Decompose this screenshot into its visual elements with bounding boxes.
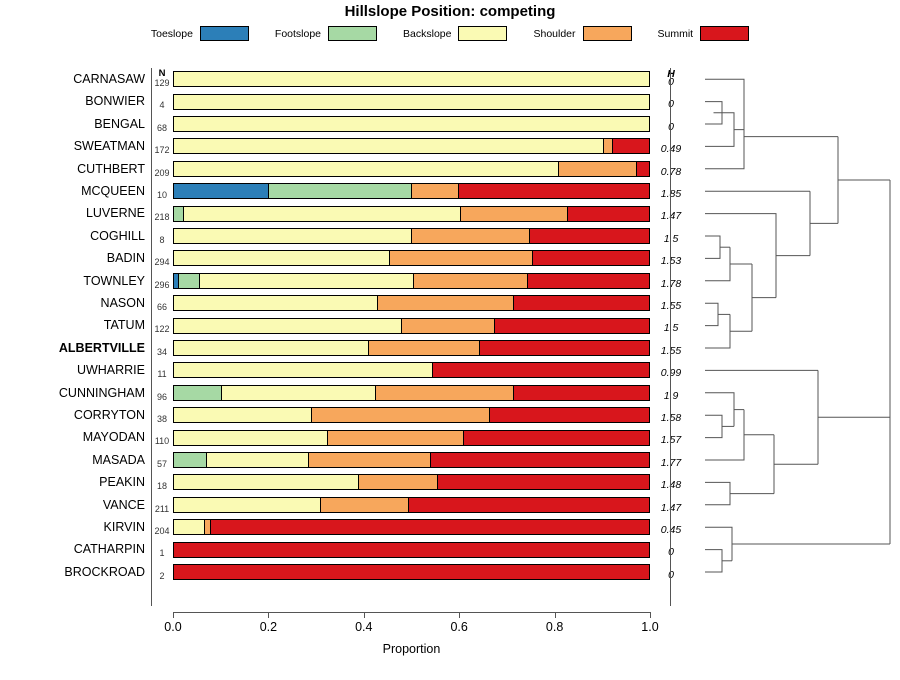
- bar-segment-shoulder: [312, 408, 490, 422]
- legend: ToeslopeFootslopeBackslopeShoulderSummit: [0, 26, 900, 41]
- bar-row: [173, 561, 650, 583]
- bar-segment-shoulder: [309, 453, 430, 467]
- bar-row: [173, 471, 650, 493]
- bar-segment-summit: [174, 565, 649, 579]
- taxon-label: LUVERNE: [0, 202, 145, 224]
- bar-row: [173, 382, 650, 404]
- x-tick: [173, 612, 174, 618]
- stacked-bar[interactable]: [173, 161, 650, 177]
- bar-row: [173, 113, 650, 135]
- legend-swatch: [458, 26, 507, 41]
- stacked-bar[interactable]: [173, 452, 650, 468]
- x-axis-line: [173, 612, 650, 613]
- bar-segment-backslope: [174, 296, 378, 310]
- bar-segment-backslope: [174, 229, 412, 243]
- x-tick-label: 0.8: [525, 620, 585, 634]
- bar-row: [173, 494, 650, 516]
- legend-item: Summit: [658, 26, 750, 41]
- bar-row: [173, 158, 650, 180]
- dendrogram: [700, 60, 900, 620]
- bar-segment-summit: [433, 363, 649, 377]
- legend-item: Toeslope: [151, 26, 249, 41]
- bar-segment-summit: [431, 453, 650, 467]
- chart-title: Hillslope Position: competing: [0, 3, 900, 20]
- bar-row: [173, 404, 650, 426]
- stacked-bar[interactable]: [173, 430, 650, 446]
- bar-segment-footslope: [174, 386, 222, 400]
- stacked-bar[interactable]: [173, 497, 650, 513]
- bar-row: [173, 538, 650, 560]
- taxon-label: ALBERTVILLE: [0, 337, 145, 359]
- bar-segment-summit: [438, 475, 649, 489]
- stacked-bar[interactable]: [173, 474, 650, 490]
- stacked-bar[interactable]: [173, 273, 650, 289]
- stacked-bar[interactable]: [173, 206, 650, 222]
- legend-item: Footslope: [275, 26, 377, 41]
- bar-segment-shoulder: [378, 296, 513, 310]
- bar-segment-summit: [533, 251, 649, 265]
- taxon-label: NASON: [0, 292, 145, 314]
- taxon-label: BONWIER: [0, 90, 145, 112]
- bar-segment-shoulder: [390, 251, 533, 265]
- bar-row: [173, 314, 650, 336]
- bar-segment-shoulder: [412, 229, 531, 243]
- bar-row: [173, 135, 650, 157]
- bar-row: [173, 90, 650, 112]
- bar-row: [173, 68, 650, 90]
- bar-segment-backslope: [174, 139, 604, 153]
- taxon-label: PEAKIN: [0, 471, 145, 493]
- bar-segment-backslope: [174, 520, 205, 534]
- stacked-bar[interactable]: [173, 407, 650, 423]
- bar-segment-backslope: [184, 207, 462, 221]
- x-tick-label: 0.0: [143, 620, 203, 634]
- bar-segment-footslope: [174, 207, 184, 221]
- bar-segment-shoulder: [321, 498, 409, 512]
- stacked-bar[interactable]: [173, 385, 650, 401]
- taxon-label: CUTHBERT: [0, 158, 145, 180]
- bar-row: [173, 225, 650, 247]
- bar-row: [173, 202, 650, 224]
- stacked-bar[interactable]: [173, 519, 650, 535]
- bar-segment-summit: [514, 386, 649, 400]
- bar-segment-footslope: [269, 184, 412, 198]
- stacked-bar[interactable]: [173, 183, 650, 199]
- bar-segment-summit: [528, 274, 649, 288]
- bar-segment-backslope: [174, 319, 402, 333]
- bar-segment-summit: [211, 520, 649, 534]
- taxon-label: BADIN: [0, 247, 145, 269]
- bar-row: [173, 337, 650, 359]
- bar-segment-backslope: [207, 453, 309, 467]
- legend-swatch: [328, 26, 377, 41]
- legend-swatch: [700, 26, 749, 41]
- taxon-label: CATHARPIN: [0, 538, 145, 560]
- taxon-label: TOWNLEY: [0, 270, 145, 292]
- legend-item: Backslope: [403, 26, 507, 41]
- bar-segment-shoulder: [412, 184, 460, 198]
- taxon-label: CORRYTON: [0, 404, 145, 426]
- taxon-label: VANCE: [0, 494, 145, 516]
- bar-segment-backslope: [174, 498, 321, 512]
- stacked-bar-plot: [173, 68, 650, 606]
- bar-row: [173, 270, 650, 292]
- x-tick-label: 0.2: [238, 620, 298, 634]
- x-axis-label: Proportion: [173, 642, 650, 656]
- bar-segment-summit: [459, 184, 649, 198]
- legend-item: Shoulder: [533, 26, 631, 41]
- legend-item-label: Footslope: [275, 28, 321, 40]
- bar-segment-backslope: [174, 363, 433, 377]
- bar-segment-summit: [530, 229, 649, 243]
- stacked-bar[interactable]: [173, 94, 650, 110]
- bar-segment-backslope: [174, 408, 312, 422]
- x-tick-label: 0.4: [334, 620, 394, 634]
- bar-segment-summit: [568, 207, 649, 221]
- taxon-label: KIRVIN: [0, 516, 145, 538]
- bar-segment-backslope: [222, 386, 376, 400]
- stacked-bar[interactable]: [173, 71, 650, 87]
- stacked-bar[interactable]: [173, 340, 650, 356]
- x-tick-label: 1.0: [620, 620, 680, 634]
- bar-segment-backslope: [174, 341, 369, 355]
- bar-segment-backslope: [174, 95, 649, 109]
- taxon-label: COGHILL: [0, 225, 145, 247]
- bar-row: [173, 180, 650, 202]
- bar-segment-summit: [637, 162, 649, 176]
- bar-segment-summit: [495, 319, 649, 333]
- taxon-label: CUNNINGHAM: [0, 382, 145, 404]
- x-tick: [555, 612, 556, 618]
- bar-row: [173, 426, 650, 448]
- bar-segment-summit: [174, 543, 649, 557]
- bar-segment-summit: [464, 431, 649, 445]
- bar-segment-shoulder: [376, 386, 514, 400]
- x-tick-label: 0.6: [429, 620, 489, 634]
- legend-swatch: [583, 26, 632, 41]
- x-tick: [459, 612, 460, 618]
- bar-segment-backslope: [174, 475, 359, 489]
- taxon-label: MASADA: [0, 449, 145, 471]
- bar-segment-summit: [490, 408, 649, 422]
- taxon-label: BENGAL: [0, 113, 145, 135]
- legend-item-label: Summit: [658, 28, 694, 40]
- bar-segment-summit: [613, 139, 649, 153]
- bar-segment-backslope: [174, 162, 559, 176]
- bar-segment-shoulder: [604, 139, 614, 153]
- legend-item-label: Backslope: [403, 28, 451, 40]
- bar-row: [173, 449, 650, 471]
- stacked-bar[interactable]: [173, 138, 650, 154]
- legend-item-label: Shoulder: [533, 28, 575, 40]
- x-tick: [650, 612, 651, 618]
- bar-segment-shoulder: [359, 475, 437, 489]
- stacked-bar[interactable]: [173, 295, 650, 311]
- taxon-label: BROCKROAD: [0, 561, 145, 583]
- stacked-bar[interactable]: [173, 564, 650, 580]
- x-tick: [268, 612, 269, 618]
- bar-segment-backslope: [174, 251, 390, 265]
- bar-row: [173, 247, 650, 269]
- stacked-bar[interactable]: [173, 228, 650, 244]
- taxon-label: SWEATMAN: [0, 135, 145, 157]
- bar-segment-shoulder: [559, 162, 637, 176]
- taxon-label: MAYODAN: [0, 426, 145, 448]
- bar-segment-backslope: [174, 117, 649, 131]
- stacked-bar[interactable]: [173, 250, 650, 266]
- bar-segment-backslope: [174, 431, 328, 445]
- bar-segment-shoulder: [461, 207, 568, 221]
- taxon-label: MCQUEEN: [0, 180, 145, 202]
- taxon-label: TATUM: [0, 314, 145, 336]
- bar-segment-backslope: [200, 274, 414, 288]
- bar-segment-backslope: [174, 72, 649, 86]
- bar-segment-summit: [409, 498, 649, 512]
- taxon-label-column: CARNASAWBONWIERBENGALSWEATMANCUTHBERTMCQ…: [0, 68, 145, 606]
- legend-swatch: [200, 26, 249, 41]
- stacked-bar[interactable]: [173, 318, 650, 334]
- bar-segment-shoulder: [369, 341, 481, 355]
- bar-segment-summit: [514, 296, 649, 310]
- stacked-bar[interactable]: [173, 362, 650, 378]
- bar-segment-footslope: [179, 274, 200, 288]
- bar-segment-footslope: [174, 453, 207, 467]
- bar-row: [173, 292, 650, 314]
- bar-segment-shoulder: [414, 274, 528, 288]
- bar-row: [173, 516, 650, 538]
- bar-segment-summit: [480, 341, 649, 355]
- bar-row: [173, 359, 650, 381]
- legend-item-label: Toeslope: [151, 28, 193, 40]
- stacked-bar[interactable]: [173, 542, 650, 558]
- bar-segment-shoulder: [402, 319, 495, 333]
- x-tick: [364, 612, 365, 618]
- stacked-bar[interactable]: [173, 116, 650, 132]
- taxon-label: CARNASAW: [0, 68, 145, 90]
- taxon-label: UWHARRIE: [0, 359, 145, 381]
- dendrogram-svg: [700, 60, 900, 620]
- bar-segment-shoulder: [328, 431, 463, 445]
- bar-segment-toeslope: [174, 184, 269, 198]
